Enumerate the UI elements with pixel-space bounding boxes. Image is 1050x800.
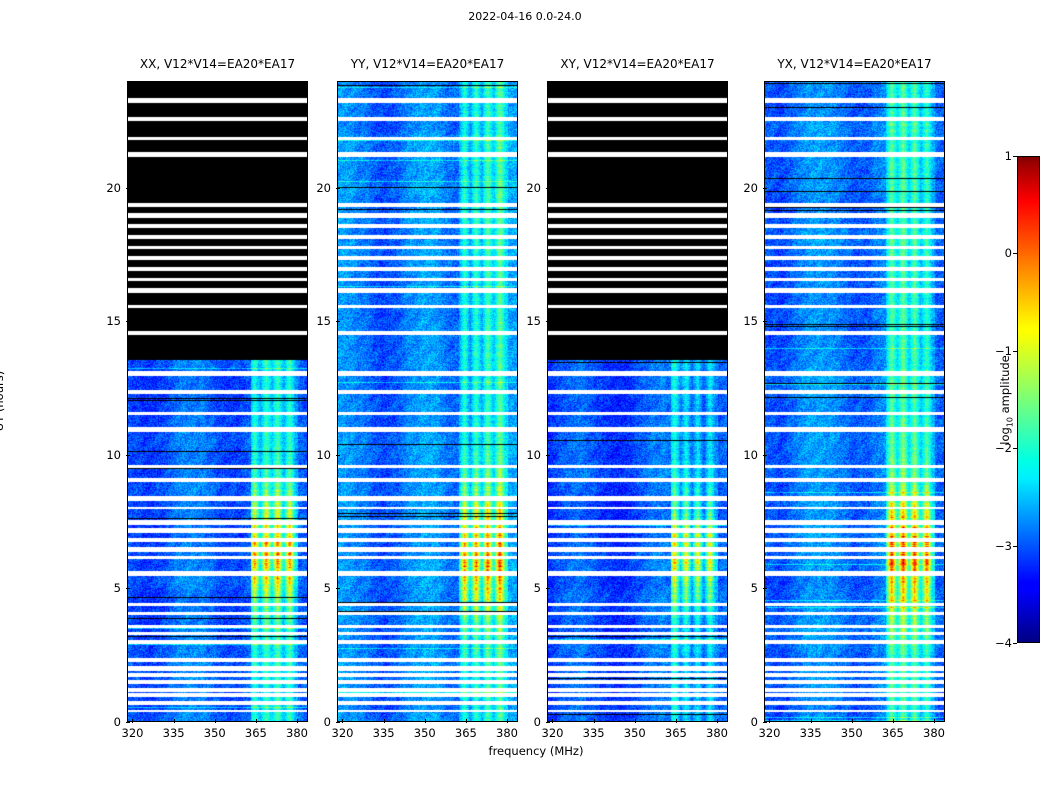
y-tick-label: 15: [316, 314, 337, 328]
x-tick-mark: [466, 719, 467, 723]
colorbar-tick-mark: [1013, 448, 1017, 449]
y-tick-label: 0: [751, 715, 764, 729]
y-tick-label: 15: [106, 314, 127, 328]
x-tick-label: 350: [624, 726, 646, 740]
panel-yy-title: YY, V12*V14=EA20*EA17: [351, 57, 504, 71]
x-tick-label: 335: [583, 726, 605, 740]
x-tick-mark: [256, 719, 257, 723]
x-tick-mark: [635, 719, 636, 723]
x-tick-label: 380: [706, 726, 728, 740]
y-tick-label: 10: [106, 448, 127, 462]
y-tick-label: 5: [534, 581, 547, 595]
x-tick-label: 365: [245, 726, 267, 740]
panel-xy[interactable]: XY, V12*V14=EA20*EA17 320335350365380051…: [547, 81, 728, 722]
x-tick-label: 335: [800, 726, 822, 740]
y-tick-label: 5: [751, 581, 764, 595]
panel-xx-title: XX, V12*V14=EA20*EA17: [140, 57, 295, 71]
colorbar-tick-mark: [1013, 546, 1017, 547]
x-tick-mark: [215, 719, 216, 723]
x-tick-mark: [852, 719, 853, 723]
x-tick-label: 350: [841, 726, 863, 740]
panel-yy-plot-area[interactable]: [337, 81, 518, 722]
y-tick-label: 15: [526, 314, 547, 328]
x-tick-mark: [174, 719, 175, 723]
colorbar-tick-label: −4: [995, 636, 1012, 650]
x-tick-label: 365: [665, 726, 687, 740]
x-tick-mark: [594, 719, 595, 723]
panel-xy-plot-area[interactable]: [547, 81, 728, 722]
x-tick-mark: [717, 719, 718, 723]
x-tick-mark: [132, 719, 133, 723]
x-tick-mark: [811, 719, 812, 723]
y-tick-label: 0: [114, 715, 127, 729]
colorbar-tick-label: 0: [1005, 246, 1012, 260]
x-tick-label: 380: [496, 726, 518, 740]
y-tick-label: 20: [106, 181, 127, 195]
y-tick-label: 10: [526, 448, 547, 462]
panel-yy[interactable]: YY, V12*V14=EA20*EA17 320335350365380051…: [337, 81, 518, 722]
x-tick-label: 350: [204, 726, 226, 740]
x-tick-mark: [893, 719, 894, 723]
colorbar-tick-label: 1: [1005, 149, 1012, 163]
x-tick-label: 365: [455, 726, 477, 740]
y-tick-label: 20: [743, 181, 764, 195]
panel-yx[interactable]: YX, V12*V14=EA20*EA17 320335350365380051…: [764, 81, 945, 722]
x-tick-label: 380: [923, 726, 945, 740]
panel-xy-title: XY, V12*V14=EA20*EA17: [560, 57, 714, 71]
x-tick-mark: [384, 719, 385, 723]
colorbar[interactable]: 10−1−2−3−4: [1017, 156, 1040, 643]
y-tick-label: 0: [534, 715, 547, 729]
y-tick-label: 20: [526, 181, 547, 195]
colorbar-label: log10 amplitude: [998, 355, 1014, 445]
y-tick-label: 0: [324, 715, 337, 729]
x-tick-label: 335: [163, 726, 185, 740]
figure-canvas: 2022-04-16 0.0-24.0 XX, V12*V14=EA20*EA1…: [0, 0, 1050, 800]
panel-yx-plot-area[interactable]: [764, 81, 945, 722]
panel-yx-title: YX, V12*V14=EA20*EA17: [777, 57, 931, 71]
colorbar-tick-mark: [1013, 351, 1017, 352]
y-tick-label: 5: [114, 581, 127, 595]
x-tick-mark: [676, 719, 677, 723]
x-tick-mark: [552, 719, 553, 723]
x-tick-label: 365: [882, 726, 904, 740]
x-tick-label: 335: [373, 726, 395, 740]
colorbar-tick-mark: [1013, 253, 1017, 254]
y-tick-label: 20: [316, 181, 337, 195]
x-tick-mark: [934, 719, 935, 723]
x-tick-mark: [507, 719, 508, 723]
colorbar-gradient: [1017, 156, 1040, 643]
x-tick-mark: [425, 719, 426, 723]
x-axis-label: frequency (MHz): [127, 744, 945, 758]
colorbar-tick-label: −3: [995, 539, 1012, 553]
y-tick-label: 15: [743, 314, 764, 328]
y-tick-label: 10: [743, 448, 764, 462]
y-axis-label: UT (hours): [0, 371, 6, 431]
figure-suptitle: 2022-04-16 0.0-24.0: [0, 10, 1050, 23]
x-tick-label: 380: [286, 726, 308, 740]
x-tick-label: 350: [414, 726, 436, 740]
y-tick-label: 5: [324, 581, 337, 595]
colorbar-tick-mark: [1013, 643, 1017, 644]
y-tick-label: 10: [316, 448, 337, 462]
x-tick-mark: [342, 719, 343, 723]
colorbar-tick-mark: [1013, 156, 1017, 157]
panel-xx-plot-area[interactable]: [127, 81, 308, 722]
x-tick-mark: [297, 719, 298, 723]
panel-xx[interactable]: XX, V12*V14=EA20*EA17 320335350365380051…: [127, 81, 308, 722]
x-tick-mark: [769, 719, 770, 723]
